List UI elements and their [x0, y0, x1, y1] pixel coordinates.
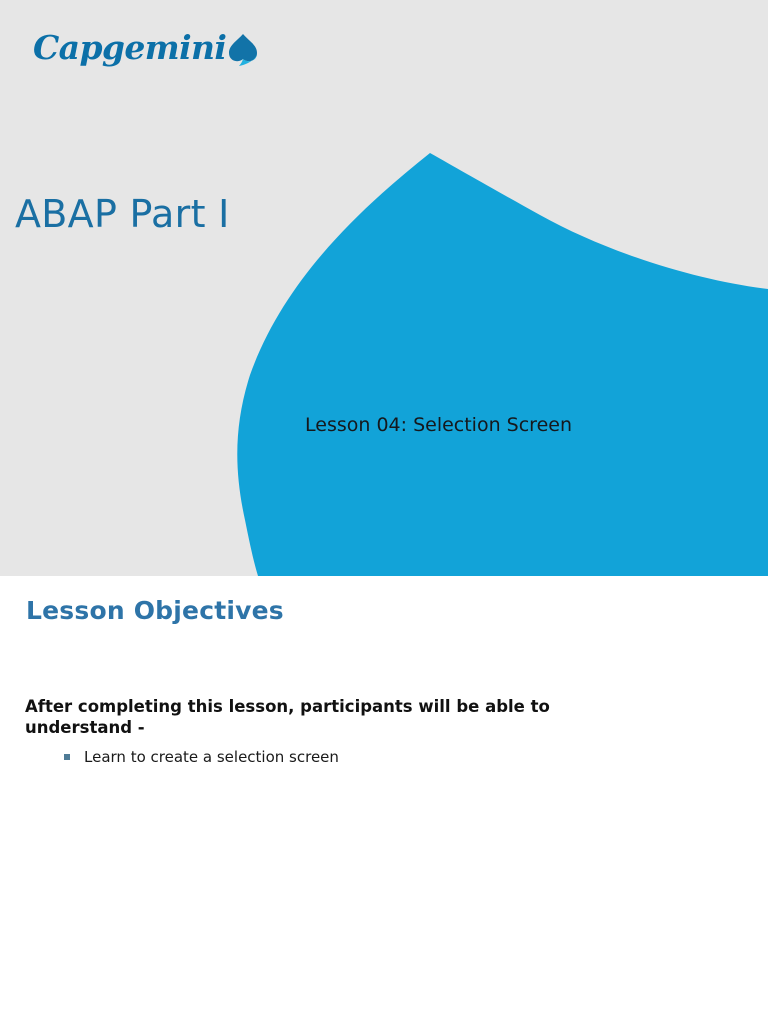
- section-heading: Lesson Objectives: [26, 596, 284, 625]
- logo-wordmark: Capgemini: [33, 29, 226, 67]
- page-title: ABAP Part I: [15, 192, 230, 236]
- objectives-panel: Lesson Objectives After completing this …: [0, 576, 768, 1024]
- list-item-label: Learn to create a selection screen: [84, 748, 339, 766]
- slide: Capgemini ABAP Part I Lesson 04: Selecti…: [0, 0, 768, 1024]
- capgemini-logo: Capgemini: [33, 29, 233, 75]
- bullet-square-icon: [64, 754, 70, 760]
- blue-wave-decoration: [0, 0, 768, 576]
- objectives-list: Learn to create a selection screen: [62, 746, 622, 769]
- objectives-lead-text: After completing this lesson, participan…: [25, 696, 585, 738]
- list-item: Learn to create a selection screen: [62, 746, 622, 769]
- title-panel: Capgemini ABAP Part I Lesson 04: Selecti…: [0, 0, 768, 576]
- capgemini-spade-icon: [227, 32, 259, 68]
- lesson-subtitle: Lesson 04: Selection Screen: [305, 414, 572, 436]
